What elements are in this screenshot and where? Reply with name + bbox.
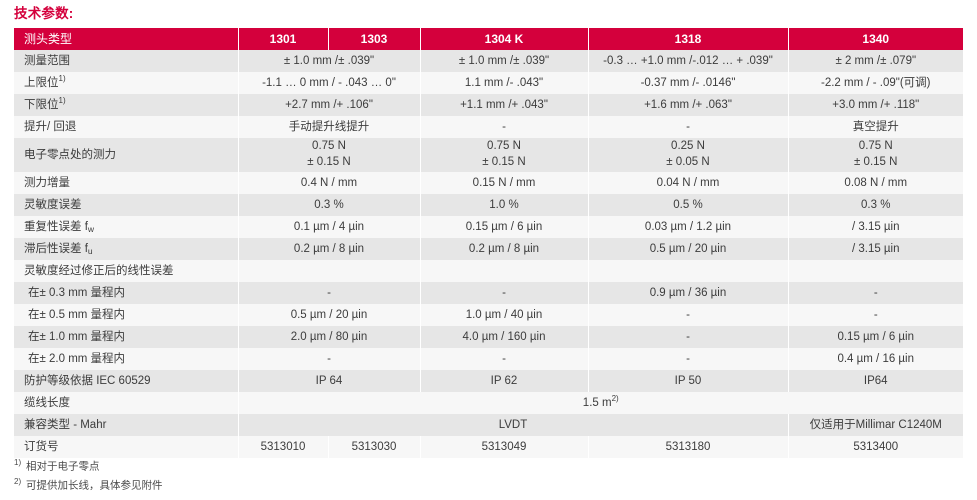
table-cell: 0.04 N / mm bbox=[588, 172, 788, 194]
table-cell: - bbox=[788, 304, 963, 326]
row-label: 在± 0.3 mm 量程内 bbox=[14, 282, 238, 304]
column-header-1304-k: 1304 K bbox=[420, 28, 588, 50]
table-cell: 0.1 µm / 4 µin bbox=[238, 216, 420, 238]
table-cell: 0.4 µm / 16 µin bbox=[788, 348, 963, 370]
table-cell: 5313180 bbox=[588, 436, 788, 458]
table-row: 下限位1)+2.7 mm /+ .106"+1.1 mm /+ .043"+1.… bbox=[14, 94, 963, 116]
table-cell: 0.3 % bbox=[238, 194, 420, 216]
table-cell: +1.6 mm /+ .063" bbox=[588, 94, 788, 116]
table-row: 滞后性误差 fu0.2 µm / 8 µin0.2 µm / 8 µin0.5 … bbox=[14, 238, 963, 260]
row-label: 在± 2.0 mm 量程内 bbox=[14, 348, 238, 370]
table-cell bbox=[788, 260, 963, 282]
row-label: 缆线长度 bbox=[14, 392, 238, 414]
table-cell: -2.2 mm / - .09"(可调) bbox=[788, 72, 963, 94]
row-label: 防护等级依据 IEC 60529 bbox=[14, 370, 238, 392]
footnote-text: 可提供加长线，具体参见附件 bbox=[26, 480, 163, 492]
table-cell: / 3.15 µin bbox=[788, 238, 963, 260]
column-header-1303: 1303 bbox=[328, 28, 420, 50]
table-cell: 0.4 N / mm bbox=[238, 172, 420, 194]
table-cell: 真空提升 bbox=[788, 116, 963, 138]
table-cell: 0.15 µm / 6 µin bbox=[788, 326, 963, 348]
table-cell: 1.5 m2) bbox=[238, 392, 963, 414]
table-cell: -0.37 mm /- .0146" bbox=[588, 72, 788, 94]
table-cell: IP 50 bbox=[588, 370, 788, 392]
table-cell: - bbox=[788, 282, 963, 304]
row-label: 测力增量 bbox=[14, 172, 238, 194]
table-cell: +2.7 mm /+ .106" bbox=[238, 94, 420, 116]
table-cell: +1.1 mm /+ .043" bbox=[420, 94, 588, 116]
table-cell: IP 62 bbox=[420, 370, 588, 392]
table-row: 灵敏度误差0.3 %1.0 %0.5 %0.3 % bbox=[14, 194, 963, 216]
table-cell bbox=[420, 260, 588, 282]
row-label: 在± 0.5 mm 量程内 bbox=[14, 304, 238, 326]
table-cell: 5313049 bbox=[420, 436, 588, 458]
table-row: 在± 0.5 mm 量程内0.5 µm / 20 µin1.0 µm / 40 … bbox=[14, 304, 963, 326]
table-cell: -1.1 … 0 mm / - .043 … 0" bbox=[238, 72, 420, 94]
table-cell: - bbox=[420, 116, 588, 138]
table-cell: - bbox=[588, 326, 788, 348]
table-cell: 0.5 % bbox=[588, 194, 788, 216]
row-label: 上限位1) bbox=[14, 72, 238, 94]
table-cell: 0.5 µm / 20 µin bbox=[588, 238, 788, 260]
table-cell: 0.3 % bbox=[788, 194, 963, 216]
column-header-probe-type: 测头类型 bbox=[14, 28, 238, 50]
table-cell: 1.0 % bbox=[420, 194, 588, 216]
table-cell: 4.0 µm / 160 µin bbox=[420, 326, 588, 348]
table-cell: 0.08 N / mm bbox=[788, 172, 963, 194]
row-label: 电子零点处的测力 bbox=[14, 138, 238, 172]
footnotes: 1)相对于电子零点2)可提供加长线，具体参见附件 bbox=[14, 458, 163, 497]
table-row: 上限位1)-1.1 … 0 mm / - .043 … 0"1.1 mm /- … bbox=[14, 72, 963, 94]
table-cell: - bbox=[420, 348, 588, 370]
table-cell: 1.0 µm / 40 µin bbox=[420, 304, 588, 326]
table-cell: 0.2 µm / 8 µin bbox=[420, 238, 588, 260]
table-cell: 0.75 N± 0.15 N bbox=[788, 138, 963, 172]
table-cell: 5313030 bbox=[328, 436, 420, 458]
table-cell: 仅适用于Millimar C1240M bbox=[788, 414, 963, 436]
table-row: 灵敏度经过修正后的线性误差 bbox=[14, 260, 963, 282]
table-row: 测量范围± 1.0 mm /± .039"± 1.0 mm /± .039"-0… bbox=[14, 50, 963, 72]
table-cell: 1.1 mm /- .043" bbox=[420, 72, 588, 94]
table-cell: 0.9 µm / 36 µin bbox=[588, 282, 788, 304]
table-cell: ± 1.0 mm /± .039" bbox=[238, 50, 420, 72]
row-label: 重复性误差 fw bbox=[14, 216, 238, 238]
table-header: 测头类型130113031304 K13181340 bbox=[14, 28, 963, 50]
table-body: 测量范围± 1.0 mm /± .039"± 1.0 mm /± .039"-0… bbox=[14, 50, 963, 458]
footnote: 1)相对于电子零点 bbox=[14, 458, 163, 473]
table-cell: +3.0 mm /+ .118" bbox=[788, 94, 963, 116]
footnote: 2)可提供加长线，具体参见附件 bbox=[14, 477, 163, 492]
column-header-1301: 1301 bbox=[238, 28, 328, 50]
table-cell: - bbox=[588, 348, 788, 370]
table-cell: 0.75 N± 0.15 N bbox=[238, 138, 420, 172]
table-row: 缆线长度1.5 m2) bbox=[14, 392, 963, 414]
table-cell: 0.15 µm / 6 µin bbox=[420, 216, 588, 238]
table-cell: IP 64 bbox=[238, 370, 420, 392]
page-title: 技术参数: bbox=[14, 2, 74, 22]
table-cell: LVDT bbox=[238, 414, 788, 436]
row-label-footnote-marker: 1) bbox=[59, 74, 66, 83]
table-cell: IP64 bbox=[788, 370, 963, 392]
row-label-subscript: u bbox=[88, 246, 93, 256]
table-cell: - bbox=[420, 282, 588, 304]
table-row: 在± 0.3 mm 量程内--0.9 µm / 36 µin- bbox=[14, 282, 963, 304]
table-cell: 0.15 N / mm bbox=[420, 172, 588, 194]
cell-footnote-marker: 2) bbox=[612, 394, 619, 403]
row-label: 下限位1) bbox=[14, 94, 238, 116]
table-cell: - bbox=[238, 348, 420, 370]
row-label: 滞后性误差 fu bbox=[14, 238, 238, 260]
row-label: 测量范围 bbox=[14, 50, 238, 72]
table-row: 测力增量0.4 N / mm0.15 N / mm0.04 N / mm0.08… bbox=[14, 172, 963, 194]
table-cell: ± 2 mm /± .079" bbox=[788, 50, 963, 72]
table-cell bbox=[238, 260, 420, 282]
table-row: 在± 2.0 mm 量程内---0.4 µm / 16 µin bbox=[14, 348, 963, 370]
table-cell: - bbox=[588, 116, 788, 138]
table-cell: - bbox=[588, 304, 788, 326]
table-header-row: 测头类型130113031304 K13181340 bbox=[14, 28, 963, 50]
row-label: 提升/ 回退 bbox=[14, 116, 238, 138]
table-cell: - bbox=[238, 282, 420, 304]
table-cell: 0.03 µm / 1.2 µin bbox=[588, 216, 788, 238]
footnote-marker: 1) bbox=[14, 458, 26, 467]
table-cell: 0.75 N± 0.15 N bbox=[420, 138, 588, 172]
table-cell: 5313400 bbox=[788, 436, 963, 458]
table-row: 订货号53130105313030531304953131805313400 bbox=[14, 436, 963, 458]
table-cell: 手动提升线提升 bbox=[238, 116, 420, 138]
technical-specifications-table: 测头类型130113031304 K13181340 测量范围± 1.0 mm … bbox=[14, 28, 963, 458]
row-label: 订货号 bbox=[14, 436, 238, 458]
footnote-marker: 2) bbox=[14, 477, 26, 486]
table-row: 兼容类型 - MahrLVDT仅适用于Millimar C1240M bbox=[14, 414, 963, 436]
table-cell: -0.3 … +1.0 mm /-.012 … + .039" bbox=[588, 50, 788, 72]
column-header-1318: 1318 bbox=[588, 28, 788, 50]
table-cell: / 3.15 µin bbox=[788, 216, 963, 238]
table-row: 防护等级依据 IEC 60529IP 64IP 62IP 50IP64 bbox=[14, 370, 963, 392]
spec-sheet-page: 技术参数: 测头类型130113031304 K13181340 测量范围± 1… bbox=[0, 0, 977, 500]
table-row: 电子零点处的测力0.75 N± 0.15 N0.75 N± 0.15 N0.25… bbox=[14, 138, 963, 172]
row-label: 灵敏度误差 bbox=[14, 194, 238, 216]
row-label: 灵敏度经过修正后的线性误差 bbox=[14, 260, 238, 282]
table-cell: 0.2 µm / 8 µin bbox=[238, 238, 420, 260]
row-label-subscript: w bbox=[88, 224, 94, 234]
footnote-text: 相对于电子零点 bbox=[26, 460, 100, 472]
row-label-footnote-marker: 1) bbox=[59, 96, 66, 105]
table-row: 提升/ 回退手动提升线提升--真空提升 bbox=[14, 116, 963, 138]
table-cell: 0.5 µm / 20 µin bbox=[238, 304, 420, 326]
row-label: 在± 1.0 mm 量程内 bbox=[14, 326, 238, 348]
column-header-1340: 1340 bbox=[788, 28, 963, 50]
table-row: 重复性误差 fw0.1 µm / 4 µin0.15 µm / 6 µin0.0… bbox=[14, 216, 963, 238]
table-cell bbox=[588, 260, 788, 282]
table-cell: 5313010 bbox=[238, 436, 328, 458]
table-row: 在± 1.0 mm 量程内2.0 µm / 80 µin4.0 µm / 160… bbox=[14, 326, 963, 348]
row-label: 兼容类型 - Mahr bbox=[14, 414, 238, 436]
table-cell: 2.0 µm / 80 µin bbox=[238, 326, 420, 348]
table-cell: 0.25 N± 0.05 N bbox=[588, 138, 788, 172]
table-cell: ± 1.0 mm /± .039" bbox=[420, 50, 588, 72]
